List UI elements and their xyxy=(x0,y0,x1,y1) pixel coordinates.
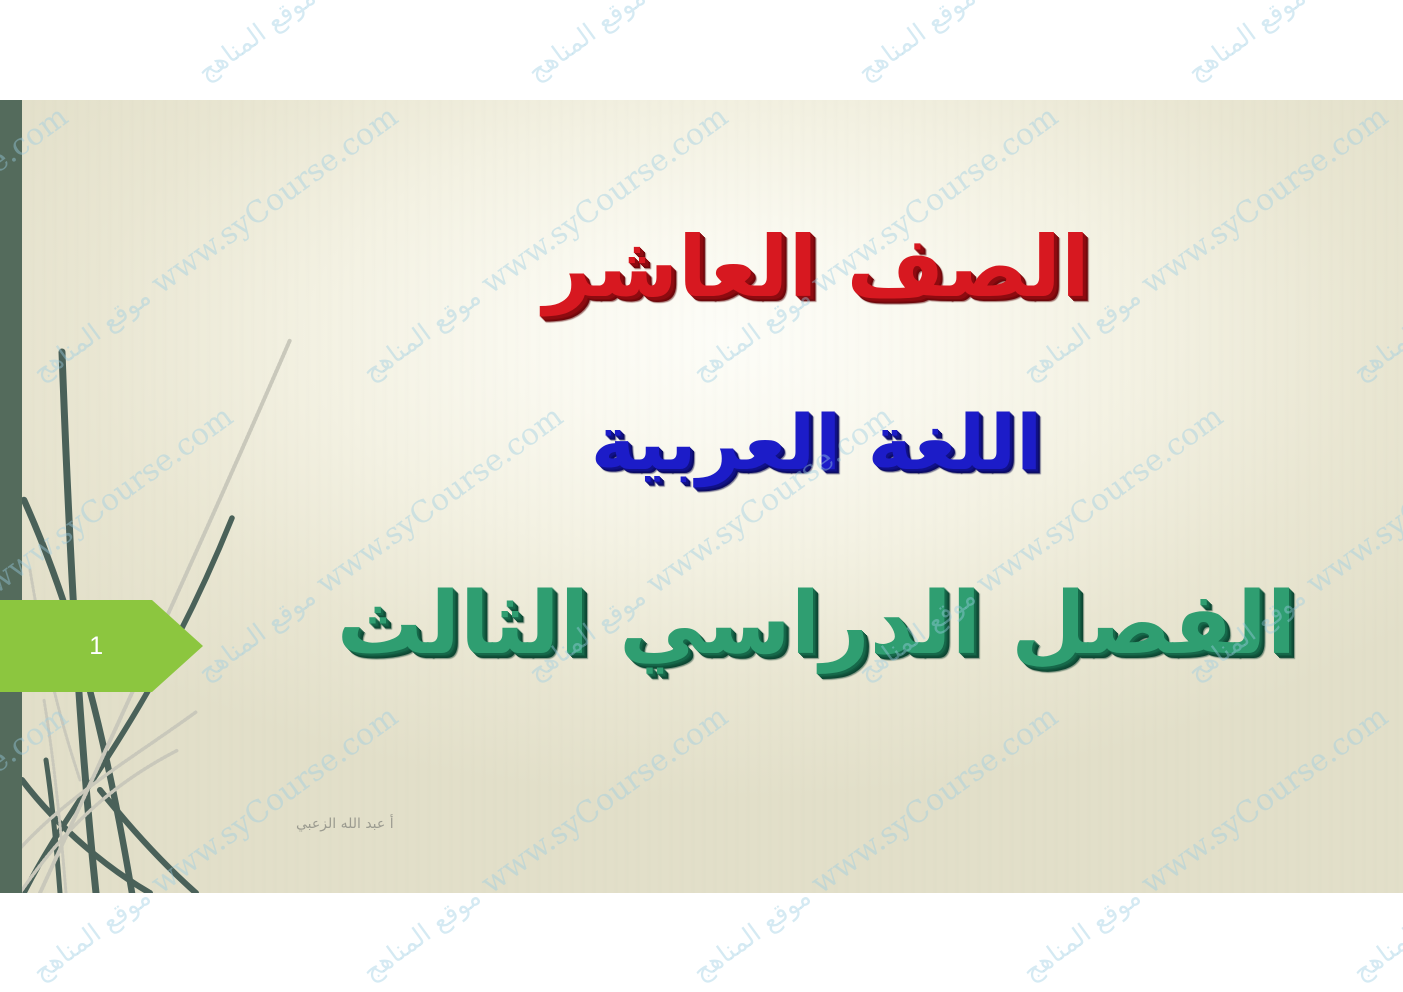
presentation-slide: 1 الصف العاشر اللغة العربية الفصل الدراس… xyxy=(0,100,1403,893)
left-accent-bar xyxy=(0,100,22,893)
title-semester: الفصل الدراسي الثالث xyxy=(230,581,1403,667)
watermark-text: موقع المناهج www.syCourse.com xyxy=(1180,0,1403,88)
slide-number-label: 1 xyxy=(89,634,113,659)
author-credit: أ عبد الله الزعبي xyxy=(296,816,394,832)
page-canvas: 1 الصف العاشر اللغة العربية الفصل الدراس… xyxy=(0,0,1403,992)
watermark-text: موقع المناهج www.syCourse.com xyxy=(850,0,1230,88)
slide-number-chevron: 1 xyxy=(0,600,203,692)
watermark-text: موقع المناهج www.syCourse.com xyxy=(190,0,570,88)
watermark-text: موقع المناهج www.syCourse.com xyxy=(520,0,900,88)
title-block: الصف العاشر اللغة العربية الفصل الدراسي … xyxy=(230,100,1403,893)
watermark-text: موقع المناهج www.syCourse.com xyxy=(0,0,240,88)
title-subject: اللغة العربية xyxy=(230,405,1403,481)
title-grade: الصف العاشر xyxy=(230,225,1403,309)
